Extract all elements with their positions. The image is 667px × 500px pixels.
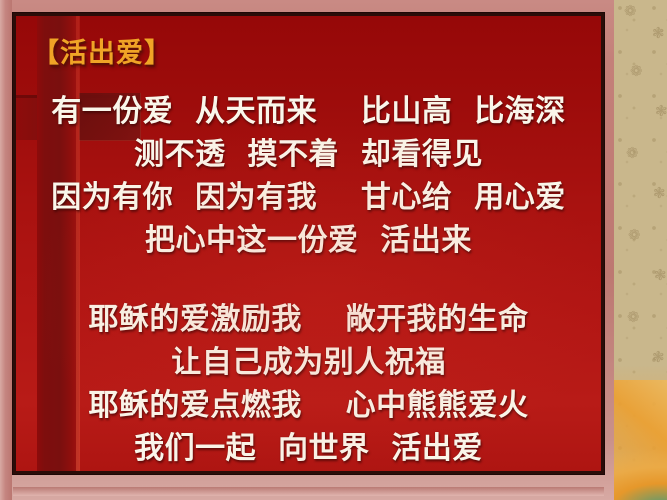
lyric-line: 把心中这一份爱 活出来 bbox=[16, 219, 601, 262]
lyric-line: 耶稣的爱点燃我 心中熊熊爱火 bbox=[16, 384, 601, 427]
lyrics-container: 有一份爱 从天而来 比山高 比海深 测不透 摸不着 却看得见 因为有你 因为有我… bbox=[16, 90, 601, 470]
song-title: 【活出爱】 bbox=[32, 31, 172, 70]
flourish-ornament-icon: ❁ bbox=[626, 146, 639, 161]
lyric-line: 我们一起 向世界 活出爱 bbox=[16, 427, 601, 470]
lyric-stanza-2: 耶稣的爱激励我 敞开我的生命 让自己成为别人祝福 耶稣的爱点燃我 心中熊熊爱火 … bbox=[16, 298, 601, 470]
slide-frame-bottom-band bbox=[13, 487, 604, 496]
lyric-line: 测不透 摸不着 却看得见 bbox=[16, 133, 601, 176]
lyric-line: 因为有你 因为有我 甘心给 用心爱 bbox=[16, 176, 601, 219]
flourish-ornament-icon: ❁ bbox=[630, 64, 643, 79]
presentation-slide-canvas: ❁ ❃ ❁ ❃ ❁ ❃ ❁ ❃ ❁ ❃ 【活出爱】 有一份爱 从天而来 比山高 … bbox=[0, 0, 667, 500]
flourish-ornament-icon: ❃ bbox=[652, 26, 665, 41]
flourish-ornament-icon: ❁ bbox=[624, 4, 637, 19]
flourish-ornament-icon: ❃ bbox=[653, 186, 666, 201]
lyric-slide: 【活出爱】 有一份爱 从天而来 比山高 比海深 测不透 摸不着 却看得见 因为有… bbox=[16, 16, 601, 471]
lyric-stanza-1: 有一份爱 从天而来 比山高 比海深 测不透 摸不着 却看得见 因为有你 因为有我… bbox=[16, 90, 601, 262]
lyric-line: 耶稣的爱激励我 敞开我的生命 bbox=[16, 298, 601, 341]
lyric-line: 有一份爱 从天而来 比山高 比海深 bbox=[16, 90, 601, 133]
lyric-line: 让自己成为别人祝福 bbox=[16, 341, 601, 384]
flourish-ornament-icon: ❃ bbox=[655, 104, 667, 119]
stanza-spacer bbox=[16, 262, 601, 298]
